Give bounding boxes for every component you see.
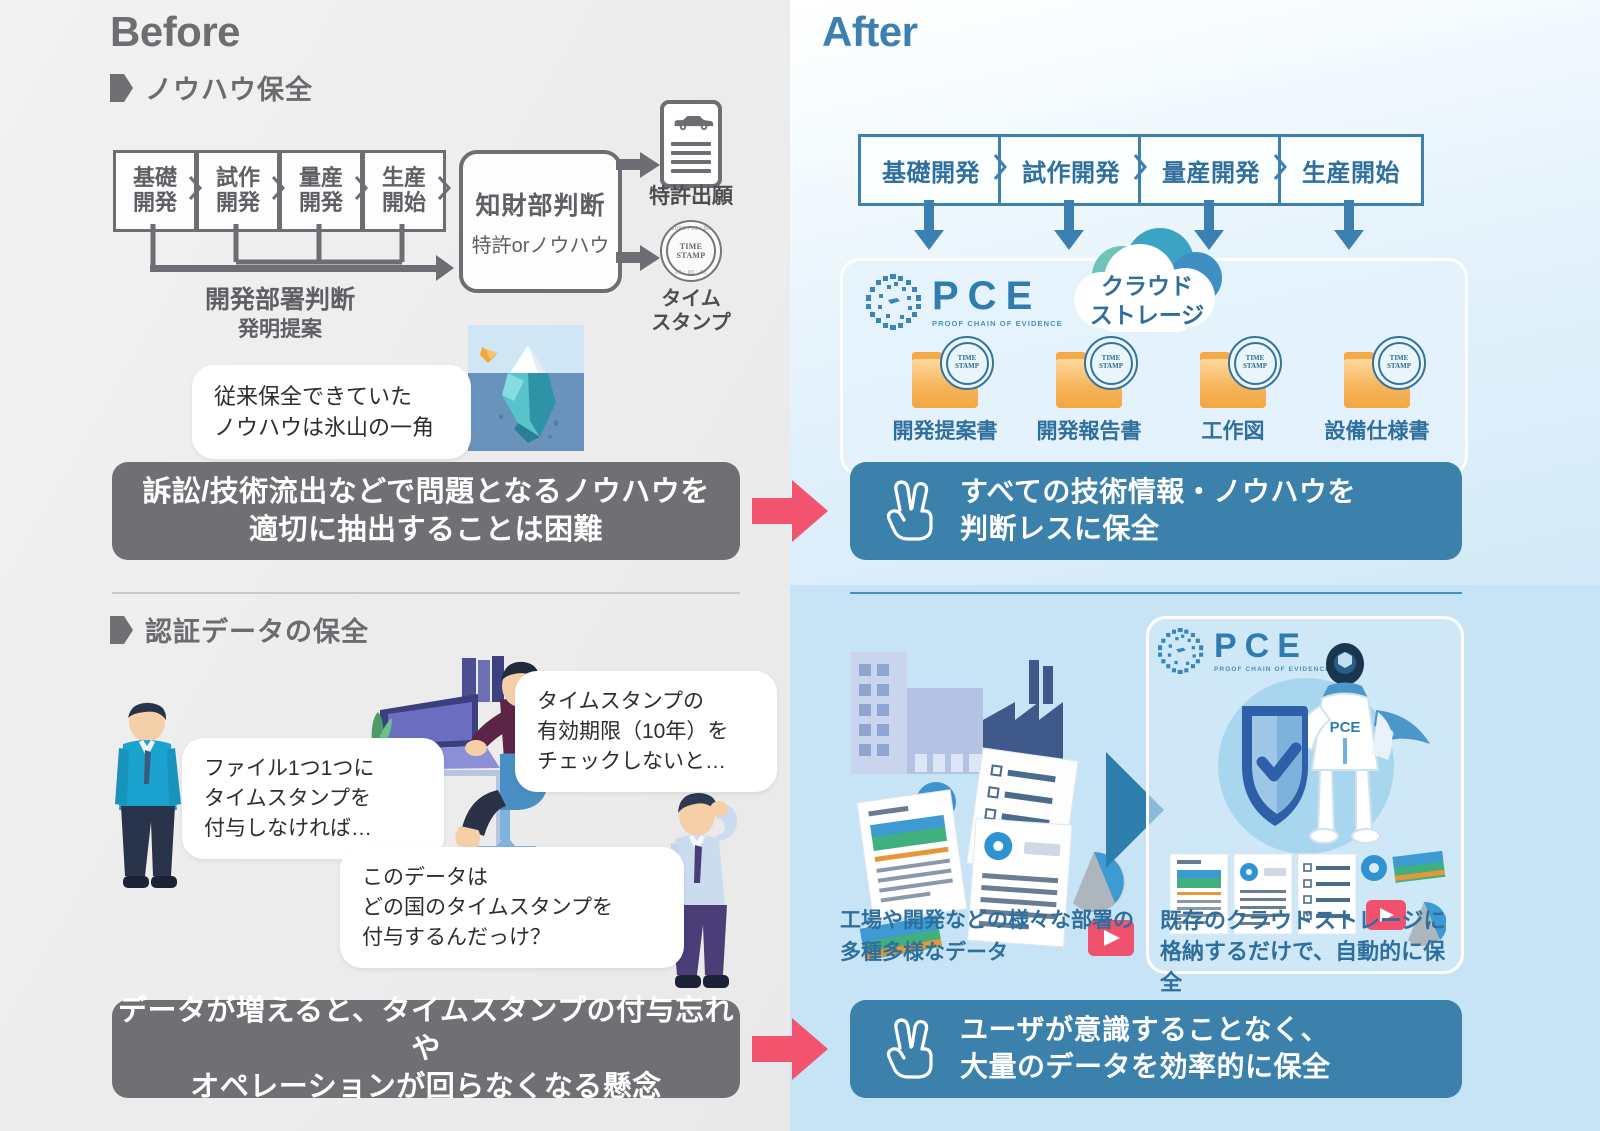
before-branch-arrow-shaft — [150, 265, 438, 272]
car-icon — [671, 112, 715, 131]
folder-label-4: 設備仕様書 — [1304, 415, 1450, 445]
after-callout-1-line2: 判断レスに保全 — [960, 511, 1356, 548]
folder-label-1: 開発提案書 — [872, 415, 1018, 445]
before-pipeline-stage-4: 生産開始 — [362, 150, 446, 232]
before-callout-1-line2: 適切に抽出することは困難 — [142, 511, 710, 549]
before-patent-label: 特許出願 — [635, 185, 747, 210]
before-section1-heading: ノウハウ保全 — [108, 68, 313, 107]
play-triangle-icon — [108, 615, 134, 645]
hero-badge-text: PCE — [1330, 719, 1361, 736]
before-callout-1-line1: 訴訟/技術流出などで問題となるノウハウを — [142, 473, 710, 511]
pce-circuit-logo-icon — [866, 274, 922, 330]
folder-label-2: 開発報告書 — [1016, 415, 1162, 445]
before-decision-title: 知財部判断 — [475, 186, 605, 222]
after-callout-2-line2: 大量のデータを効率的に保全 — [960, 1049, 1331, 1086]
before-divider — [112, 592, 740, 594]
transition-arrow-1-icon — [752, 478, 830, 544]
chevron-right-icon — [188, 175, 203, 201]
stamp-text-line2: STAMP — [677, 251, 706, 260]
chevron-right-icon — [354, 175, 369, 201]
page-title-after: After — [822, 8, 918, 56]
before-section2-heading-label: 認証データの保全 — [145, 610, 369, 649]
after-card-caption-line2: 格納するだけで、自動的に保全 — [1160, 936, 1452, 998]
chevron-right-icon — [1132, 152, 1148, 182]
before-bubble-3-line2: どの国のタイムスタンプを — [362, 893, 662, 923]
transition-arrow-2-icon — [752, 1016, 830, 1082]
document-car-icon — [660, 100, 722, 188]
after-callout-2-line1: ユーザが意識することなく、 — [960, 1012, 1331, 1049]
before-callout-1: 訴訟/技術流出などで問題となるノウハウを 適切に抽出することは困難 — [112, 462, 740, 560]
before-bubble-2-line1: タイムスタンプの — [537, 687, 755, 717]
after-pipeline-stage-4: 生産開始 — [1278, 134, 1424, 206]
stamp-date-bottom: 00 : 00 : 00 — [675, 270, 706, 276]
after-callout-1-line1: すべての技術情報・ノウハウを — [960, 474, 1356, 511]
before-arrow-to-stamp — [616, 245, 662, 271]
down-arrow-icon — [1333, 200, 1365, 252]
after-left-caption: 工場や開発などの様々な部署の 多種多様なデータ — [840, 905, 1170, 968]
iceberg-illustration — [468, 325, 584, 451]
stage2-line1: 試作 — [216, 165, 260, 190]
after-left-caption-line1: 工場や開発などの様々な部署の — [840, 905, 1170, 937]
stage4-line1: 生産 — [382, 165, 426, 190]
before-bubble-1-line1: ファイル1つ1つに — [204, 754, 422, 784]
peace-hand-icon — [884, 480, 938, 542]
after-left-caption-line2: 多種多様なデータ — [840, 937, 1170, 969]
before-bubble-2-line3: チェックしないと… — [537, 747, 755, 777]
stage2-line2: 開発 — [216, 190, 260, 215]
down-arrow-icon — [913, 200, 945, 252]
after-pipeline-stage-1: 基礎開発 — [858, 134, 1004, 206]
stage3-line1: 量産 — [299, 165, 343, 190]
before-bubble-1: ファイル1つ1つに タイムスタンプを 付与しなければ… — [182, 738, 444, 859]
after-card-caption-line1: 既存のクラウドストレージに — [1160, 905, 1452, 936]
stage3-line2: 開発 — [299, 190, 343, 215]
cloud-label-line2: ストレージ — [1062, 301, 1232, 330]
before-branch-connectors — [110, 222, 460, 282]
after-card-caption: 既存のクラウドストレージに 格納するだけで、自動的に保全 — [1160, 905, 1452, 999]
before-callout-2-line2: オペレーションが回らなくなる懸念 — [112, 1068, 740, 1106]
before-decision-box: 知財部判断 特許orノウハウ — [459, 150, 622, 293]
stage4-line2: 開始 — [382, 190, 426, 215]
pce-hero-robot-illustration: PCE — [1160, 640, 1450, 870]
before-iceberg-bubble-line2: ノウハウは氷山の一角 — [214, 412, 449, 443]
after-callout-2: ユーザが意識することなく、 大量のデータを効率的に保全 — [850, 1000, 1462, 1098]
chevron-right-icon — [437, 175, 452, 201]
before-pipeline-stage-1: 基礎開発 — [113, 150, 197, 232]
before-pipeline-stage-3: 量産開発 — [279, 150, 363, 232]
chevron-right-icon — [992, 152, 1008, 182]
stage1-line1: 基礎 — [133, 165, 177, 190]
cloud-label-line1: クラウド — [1062, 272, 1232, 301]
peace-hand-icon — [884, 1018, 938, 1080]
folder-label-3: 工作図 — [1160, 415, 1306, 445]
before-arrow-to-patent — [616, 152, 662, 178]
stage1-line2: 開発 — [133, 190, 177, 215]
after-pipeline-stage-3: 量産開発 — [1138, 134, 1284, 206]
chevron-right-icon — [271, 175, 286, 201]
cloud-storage-label: クラウド ストレージ — [1062, 272, 1232, 330]
before-bubble-3-line1: このデータは — [362, 863, 662, 893]
before-decision-subtitle: 特許orノウハウ — [472, 229, 610, 258]
time-stamp-icon: 20XX / 00 / 00 TIME STAMP 00 : 00 : 00 — [660, 220, 722, 282]
before-branch-caption-sub: 発明提案 — [120, 313, 440, 343]
time-stamp-icon: TIMESTAMP — [1228, 336, 1282, 390]
before-bubble-1-line3: 付与しなければ… — [204, 814, 422, 844]
stamp-date-top: 20XX / 00 / 00 — [672, 226, 711, 232]
before-bubble-1-line2: タイムスタンプを — [204, 784, 422, 814]
before-section2-heading: 認証データの保全 — [108, 610, 369, 649]
time-stamp-icon: TIMESTAMP — [940, 336, 994, 390]
page-title-before: Before — [110, 8, 240, 56]
before-timestamp-label: タイム スタンプ — [635, 288, 747, 335]
time-stamp-icon: TIMESTAMP — [1372, 336, 1426, 390]
before-branch-caption-main: 開発部署判断 — [120, 280, 440, 316]
time-stamp-icon: TIMESTAMP — [1084, 336, 1138, 390]
before-iceberg-bubble: 従来保全できていた ノウハウは氷山の一角 — [192, 365, 471, 459]
before-bubble-2: タイムスタンプの 有効期限（10年）を チェックしないと… — [515, 671, 777, 792]
after-pipeline-stage-2: 試作開発 — [998, 134, 1144, 206]
infographic-root: Before After ノウハウ保全 基礎開発 試作開発 量産開発 生産開始 … — [0, 0, 1600, 1131]
pce-logo-top: PCE PROOF CHAIN OF EVIDENCE — [866, 274, 1063, 330]
before-section1-heading-label: ノウハウ保全 — [145, 68, 313, 107]
before-bubble-3: このデータは どの国のタイムスタンプを 付与するんだっけ？ — [340, 847, 684, 968]
before-pipeline-stage-2: 試作開発 — [196, 150, 280, 232]
after-divider — [850, 592, 1462, 594]
stamp-text-line1: TIME — [680, 242, 703, 251]
before-bubble-2-line2: 有効期限（10年）を — [537, 717, 755, 747]
chevron-right-icon — [1272, 152, 1288, 182]
before-callout-2: データが増えると、タイムスタンプの付与忘れや オペレーションが回らなくなる懸念 — [112, 1000, 740, 1098]
before-bubble-3-line3: 付与するんだっけ？ — [362, 923, 662, 953]
before-branch-arrow-head — [436, 255, 454, 281]
before-callout-2-line1: データが増えると、タイムスタンプの付与忘れや — [112, 992, 740, 1069]
before-iceberg-bubble-line1: 従来保全できていた — [214, 381, 449, 412]
play-triangle-icon — [108, 73, 134, 103]
after-callout-1: すべての技術情報・ノウハウを 判断レスに保全 — [850, 462, 1462, 560]
